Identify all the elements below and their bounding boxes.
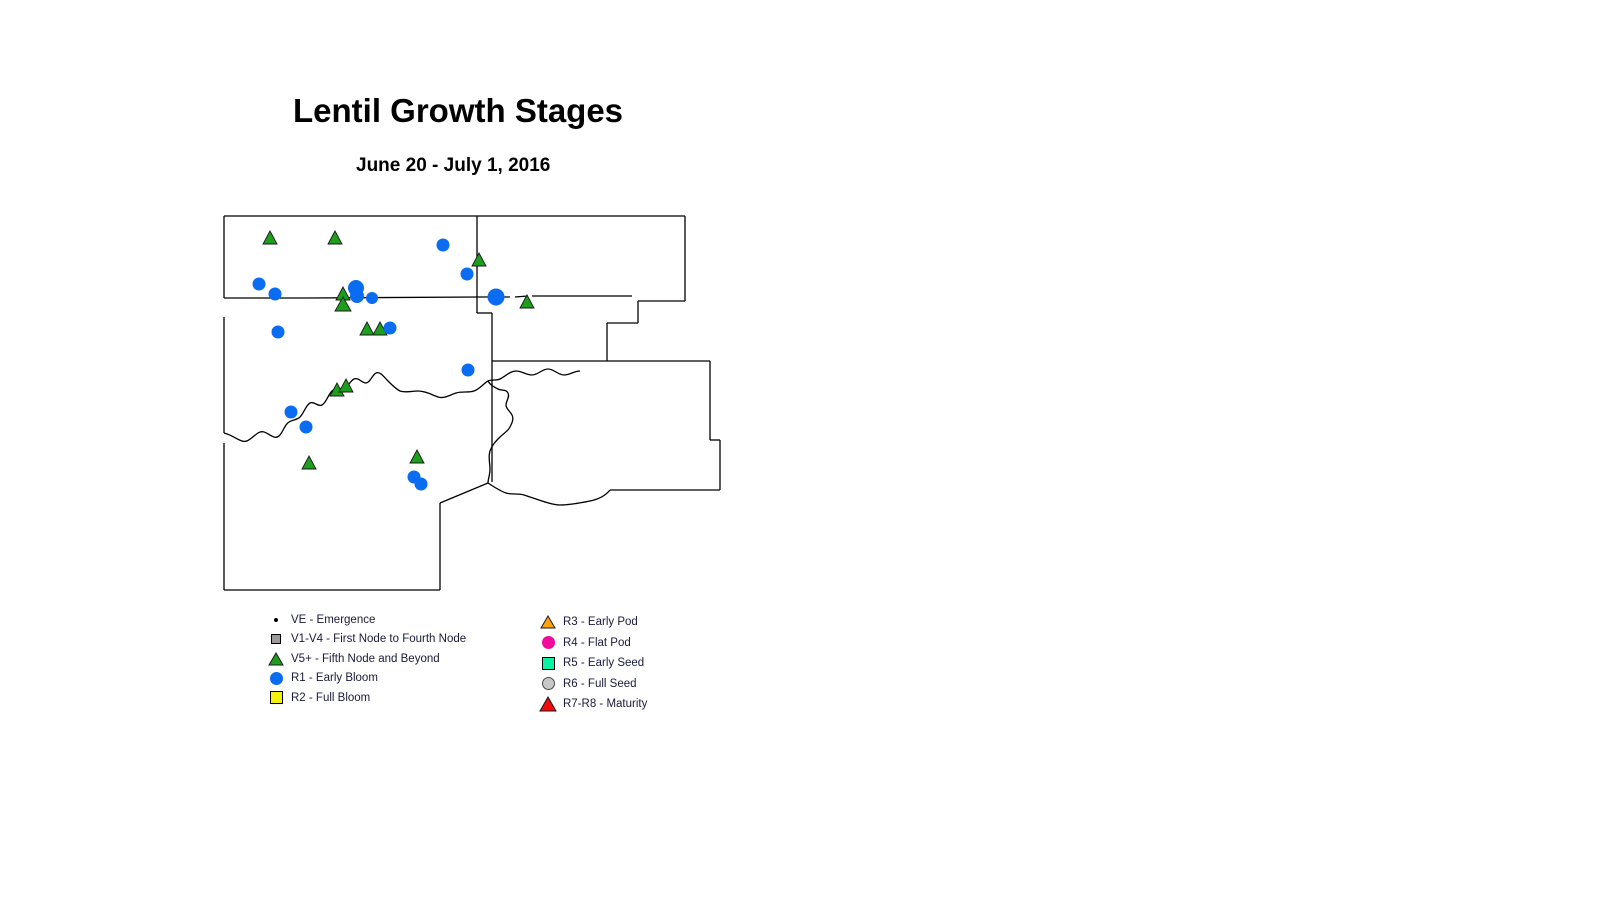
r5-square-icon [534,657,562,670]
marker-r1[interactable] [384,322,397,335]
marker-r1[interactable] [437,239,450,252]
marker-v5plus[interactable] [328,231,342,244]
r2-square-icon [262,691,290,704]
r6-circle-icon [534,677,562,690]
marker-r1[interactable] [300,421,313,434]
marker-group-r1[interactable] [253,239,505,491]
marker-r1[interactable] [269,288,282,301]
page-title: Lentil Growth Stages [293,92,623,130]
legend-item-r7r8[interactable]: R7-R8 - Maturity [534,694,647,715]
figure-canvas: Lentil Growth Stages June 20 - July 1, 2… [0,0,1612,900]
legend-label: R7-R8 - Maturity [562,698,647,710]
legend-label: V5+ - Fifth Node and Beyond [290,653,440,665]
marker-r1[interactable] [285,406,298,419]
legend-label: R4 - Flat Pod [562,637,631,649]
marker-r1[interactable] [253,278,266,291]
legend-item-r2[interactable]: R2 - Full Bloom [262,688,466,708]
legend: VE - Emergence V1-V4 - First Node to Fou… [262,610,692,720]
marker-v5plus[interactable] [302,456,316,469]
boundary-south-mid-link [440,483,488,503]
legend-column-right: R3 - Early Pod R4 - Flat Pod R5 - Early … [534,612,647,715]
legend-item-r5[interactable]: R5 - Early Seed [534,653,647,674]
legend-item-r3[interactable]: R3 - Early Pod [534,612,647,633]
boundary-west-county-line-b [306,297,481,298]
marker-r1[interactable] [350,289,364,303]
legend-item-r4[interactable]: R4 - Flat Pod [534,633,647,654]
legend-label: R3 - Early Pod [562,616,638,628]
legend-item-ve[interactable]: VE - Emergence [262,610,466,630]
ve-dot-icon [262,618,290,622]
marker-r1[interactable] [272,326,285,339]
r1-circle-icon [262,672,290,685]
legend-label: R1 - Early Bloom [290,672,378,684]
marker-r1[interactable] [415,478,428,491]
v1v4-square-icon [262,634,290,644]
marker-v5plus[interactable] [410,450,424,463]
legend-label: R2 - Full Bloom [290,692,370,704]
legend-item-v5plus[interactable]: V5+ - Fifth Node and Beyond [262,649,466,669]
marker-r1[interactable] [461,268,474,281]
marker-v5plus[interactable] [472,253,486,266]
state-map[interactable] [210,205,730,615]
marker-v5plus[interactable] [360,322,374,335]
marker-r1[interactable] [462,364,475,377]
r4-circle-icon [534,636,562,649]
marker-r1[interactable] [488,289,505,306]
r7r8-triangle-icon [534,696,562,712]
legend-label: VE - Emergence [290,614,375,626]
r3-triangle-icon [534,615,562,629]
marker-r1[interactable] [366,292,378,304]
legend-label: R5 - Early Seed [562,657,644,669]
v5plus-triangle-icon [262,652,290,666]
marker-group-v5plus[interactable] [263,231,534,469]
legend-label: V1-V4 - First Node to Fourth Node [290,633,466,645]
boundary-river-south [488,483,610,505]
boundary-river-north [224,369,580,441]
map-panel [210,205,730,615]
legend-column-left: VE - Emergence V1-V4 - First Node to Fou… [262,610,466,708]
marker-v5plus[interactable] [263,231,277,244]
legend-item-r1[interactable]: R1 - Early Bloom [262,669,466,689]
legend-item-r6[interactable]: R6 - Full Seed [534,674,647,695]
legend-label: R6 - Full Seed [562,678,637,690]
page-subtitle: June 20 - July 1, 2016 [356,155,550,177]
legend-item-v1v4[interactable]: V1-V4 - First Node to Fourth Node [262,630,466,650]
